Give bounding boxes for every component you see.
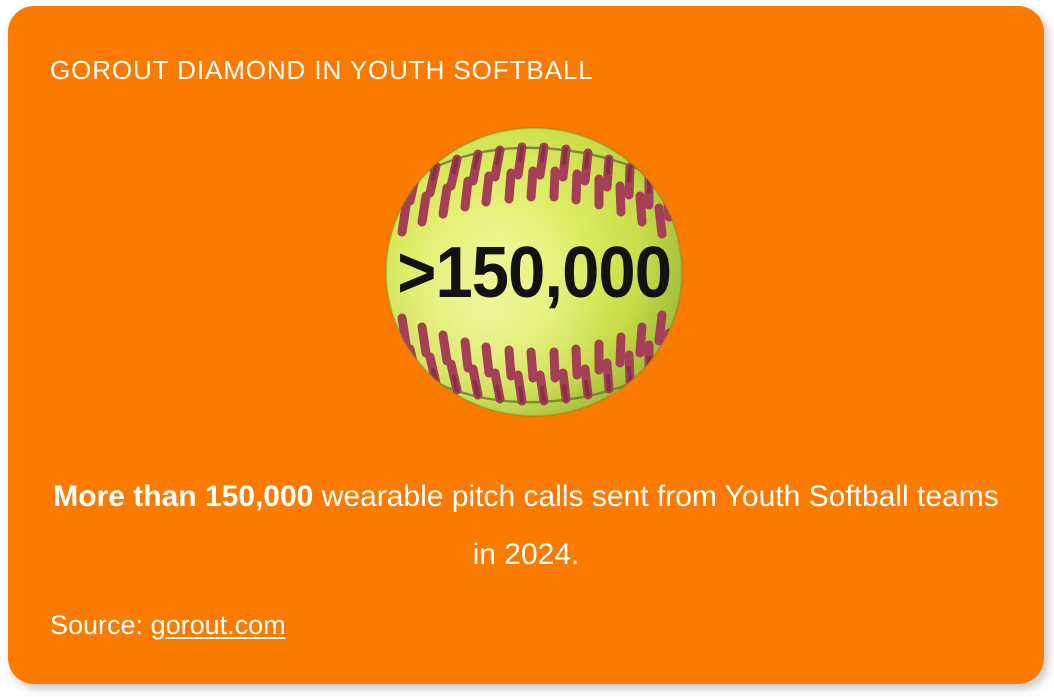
statement-text: More than 150,000 wearable pitch calls s… (48, 468, 1004, 584)
stat-card: GOROUT DIAMOND IN YOUTH SOFTBALL (8, 6, 1044, 684)
softball-icon (378, 122, 690, 422)
softball-graphic: >150,000 (378, 122, 690, 422)
source-link[interactable]: gorout.com (151, 610, 286, 640)
statement-strong: More than 150,000 (53, 480, 313, 513)
infographic-stage: GOROUT DIAMOND IN YOUTH SOFTBALL (0, 0, 1054, 697)
source-line: Source: gorout.com (50, 608, 286, 642)
page-title: GOROUT DIAMOND IN YOUTH SOFTBALL (50, 54, 594, 86)
statement-rest: wearable pitch calls sent from Youth Sof… (313, 480, 998, 571)
source-label: Source: (50, 610, 143, 640)
